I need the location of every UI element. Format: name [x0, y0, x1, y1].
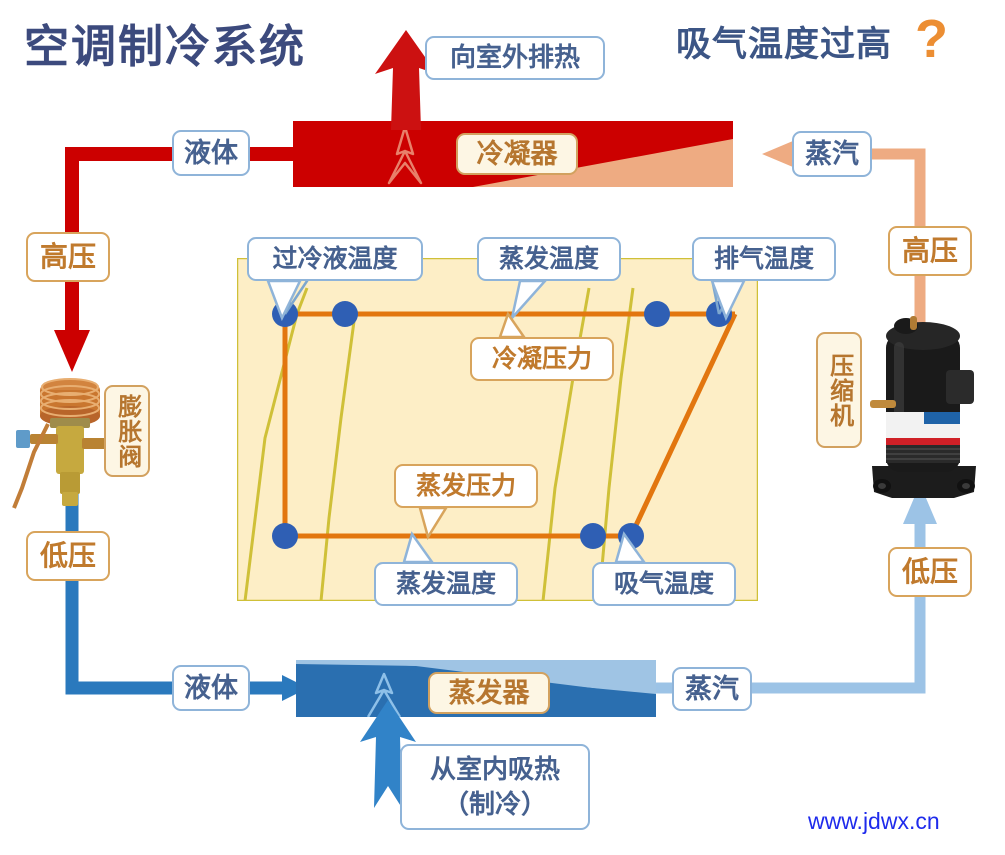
compressor-image — [862, 308, 986, 508]
chart-label-evaporating-pressure: 蒸发压力 — [394, 464, 538, 508]
expansion-valve-label-text: 膨胀阀 — [113, 394, 141, 469]
heat-in-line-2: （制冷） — [443, 787, 547, 822]
high-pressure-left-label: 高压 — [26, 232, 110, 282]
evaporator-label: 蒸发器 — [428, 672, 550, 714]
chart-label-subcool-temp: 过冷液温度 — [247, 237, 423, 281]
liquid-bottom-label: 液体 — [172, 665, 250, 711]
heat-out-label: 向室外排热 — [425, 36, 605, 80]
vapor-bottom-label: 蒸汽 — [672, 667, 752, 711]
watermark: www.jdwx.cn — [808, 808, 940, 835]
low-pressure-left-label: 低压 — [26, 531, 110, 581]
diagram-canvas: 空调制冷系统 吸气温度过高 ? 向室外排热 冷凝器 — [0, 0, 1005, 855]
chart-label-evap-temp-bottom: 蒸发温度 — [374, 562, 518, 606]
chart-label-discharge-temp: 排气温度 — [692, 237, 836, 281]
compressor-label-text: 压缩机 — [826, 353, 851, 428]
chart-label-suction-temp: 吸气温度 — [592, 562, 736, 606]
low-pressure-right-label: 低压 — [888, 547, 972, 597]
heat-in-line-1: 从室内吸热 — [430, 752, 560, 787]
chart-label-evap-temp-top: 蒸发温度 — [477, 237, 621, 281]
compressor-label: 压缩机 — [816, 332, 862, 448]
condenser-label: 冷凝器 — [456, 133, 578, 175]
ph-diagram-chart — [237, 258, 758, 601]
vapor-top-label: 蒸汽 — [792, 131, 872, 177]
chart-label-condensing-pressure: 冷凝压力 — [470, 337, 614, 381]
liquid-top-label: 液体 — [172, 130, 250, 176]
expansion-valve-label: 膨胀阀 — [104, 385, 150, 477]
heat-in-label: 从室内吸热 （制冷） — [400, 744, 590, 830]
high-pressure-right-label: 高压 — [888, 226, 972, 276]
